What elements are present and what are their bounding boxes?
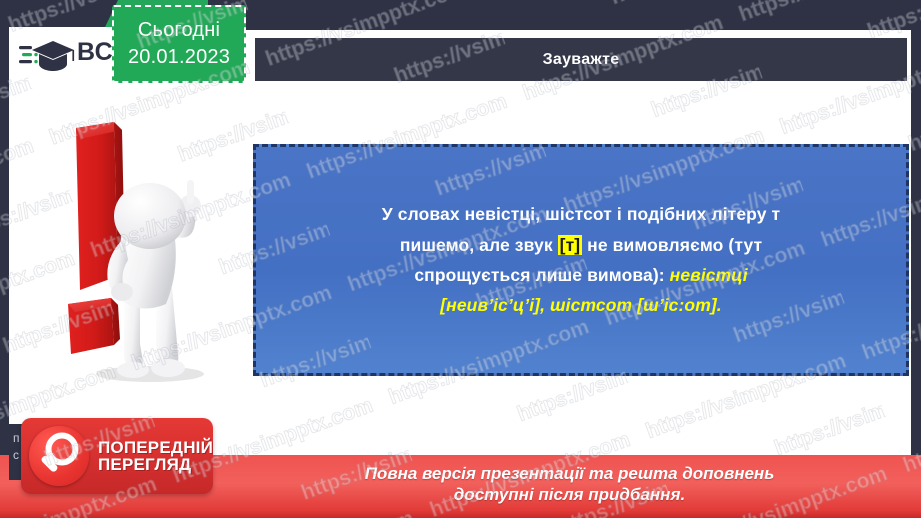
preview-badge-line-2: ПЕРЕГЛЯД <box>98 456 213 473</box>
preview-badge-line-1: ПОПЕРЕДНІЙ <box>98 439 213 456</box>
content-callout-box: У словах невістці, шістсот і подібних лі… <box>253 144 909 376</box>
content-text: пишемо, але звук <box>400 235 558 255</box>
page-title: Зауважте <box>543 51 620 69</box>
content-line-3: спрощується лише вимова): невістці <box>274 266 888 284</box>
today-label: Сьогодні <box>138 19 220 42</box>
content-line-2: пишемо, але звук [т] не вимовляємо (тут <box>274 236 888 254</box>
frame-left-bar <box>0 0 9 518</box>
frame-right-bar <box>911 0 921 518</box>
content-text: У словах невістці, шістсот і подібних лі… <box>382 204 780 224</box>
magnifier-icon <box>29 426 89 486</box>
graduation-cap-icon <box>19 37 75 77</box>
preview-badge[interactable]: ПОПЕРЕДНІЙ ПЕРЕГЛЯД <box>21 418 213 494</box>
content-text: спрощується лише вимова): <box>414 265 669 285</box>
slide-canvas: ВСІМ pptx Сьогодні 20.01.2023 Зауважте <box>0 0 921 518</box>
purchase-banner-line-2: доступні після придбання. <box>230 484 909 505</box>
content-line-4: [неив’іс’ц’і], шістсот [ш’іс:от]. <box>274 296 888 314</box>
preview-badge-text: ПОПЕРЕДНІЙ ПЕРЕГЛЯД <box>98 439 213 474</box>
slide-title-bar: Зауважте <box>255 38 907 81</box>
today-date: 20.01.2023 <box>128 46 230 69</box>
today-date-badge: Сьогодні 20.01.2023 <box>112 5 246 83</box>
purchase-banner-line-1: Повна версія презентації та решта доповн… <box>230 463 909 484</box>
content-text: не вимовляємо (тут <box>582 235 762 255</box>
purchase-banner-text: Повна версія презентації та решта доповн… <box>230 463 909 506</box>
highlighted-sound: [т] <box>558 235 583 255</box>
example-word: невістці <box>670 265 748 285</box>
exclamation-mark-mascot <box>32 118 237 408</box>
content-line-1: У словах невістці, шістсот і подібних лі… <box>274 205 888 223</box>
phonetic-transcription: [неив’іс’ц’і], шістсот [ш’іс:от]. <box>440 295 722 315</box>
